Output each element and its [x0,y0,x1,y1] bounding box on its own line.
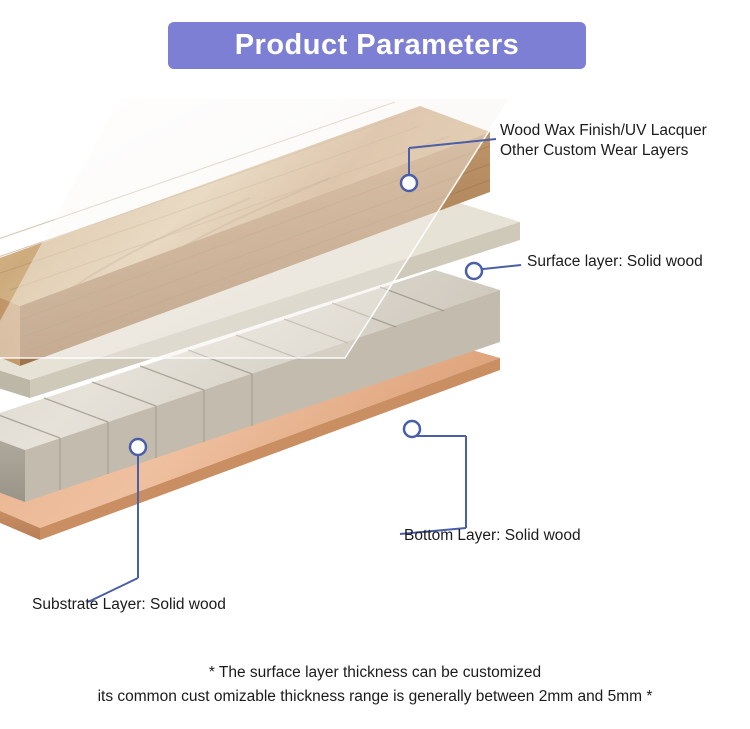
callout-marker-surface-layer [466,263,482,279]
callout-leader-lines [0,0,750,729]
callout-bottom-layer: Bottom Layer: Solid wood [404,526,581,546]
diagram-canvas: Product Parameters Wood Wax Finish/UV La… [0,0,750,729]
footnote: * The surface layer thickness can be cus… [0,661,750,709]
callout-marker-substrate-layer [130,439,146,455]
footnote-line-1: * The surface layer thickness can be cus… [209,664,541,681]
callout-wear-layer-line2: Other Custom Wear Layers [500,141,707,161]
callout-surface-layer: Surface layer: Solid wood [527,252,703,272]
footnote-line-2: its common cust omizable thickness range… [0,685,750,709]
callout-substrate-layer: Substrate Layer: Solid wood [32,595,226,615]
callout-marker-bottom-layer [404,421,420,437]
callout-wear-layer: Wood Wax Finish/UV Lacquer Other Custom … [500,121,707,161]
callout-marker-wear-layer [401,175,417,191]
callout-wear-layer-line1: Wood Wax Finish/UV Lacquer [500,121,707,141]
